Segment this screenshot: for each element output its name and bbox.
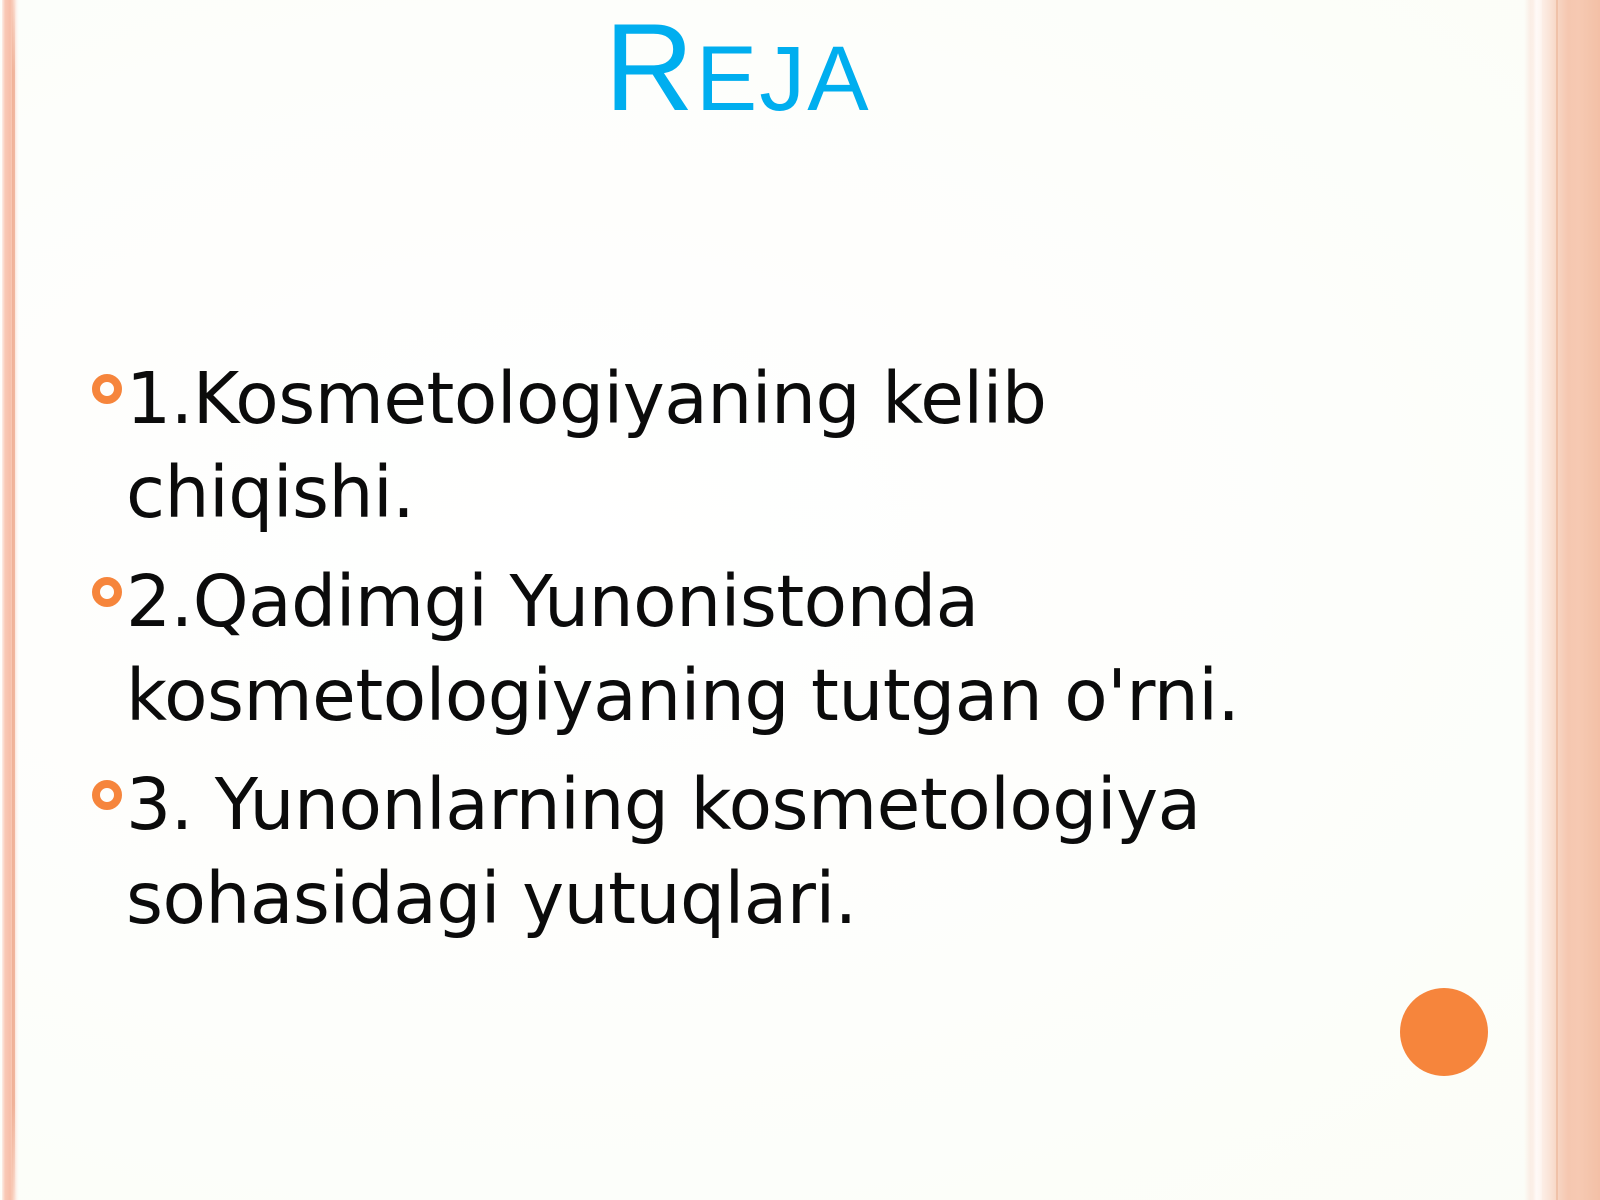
list-item-text: 2.Qadimgi Yunonistonda kosmetologiyaning… (126, 555, 1352, 744)
slide-title: REJA (0, 6, 1475, 130)
list-item: 1.Kosmetologiyaning kelib chiqishi. (92, 352, 1352, 541)
title-remaining-letters: EJA (696, 28, 871, 130)
ring-bullet-icon (92, 780, 122, 810)
right-edge-highlight (1533, 0, 1542, 1200)
list-item: 2.Qadimgi Yunonistonda kosmetologiyaning… (92, 555, 1352, 744)
left-edge-accent-line (12, 0, 15, 1200)
slide-bullet-list: 1.Kosmetologiyaning kelib chiqishi. 2.Qa… (92, 352, 1352, 961)
presentation-slide: REJA 1.Kosmetologiyaning kelib chiqishi.… (0, 0, 1600, 1200)
right-edge-accent-line (1556, 0, 1558, 1200)
list-item: 3. Yunonlarning kosmetologiya sohasidagi… (92, 758, 1352, 947)
list-item-text: 3. Yunonlarning kosmetologiya sohasidagi… (126, 758, 1352, 947)
ring-bullet-icon (92, 374, 122, 404)
list-item-text: 1.Kosmetologiyaning kelib chiqishi. (126, 352, 1352, 541)
ring-bullet-icon (92, 577, 122, 607)
title-first-letter: R (604, 0, 696, 137)
left-edge-stripe (2, 0, 19, 1200)
corner-orange-circle-decoration (1400, 988, 1488, 1076)
